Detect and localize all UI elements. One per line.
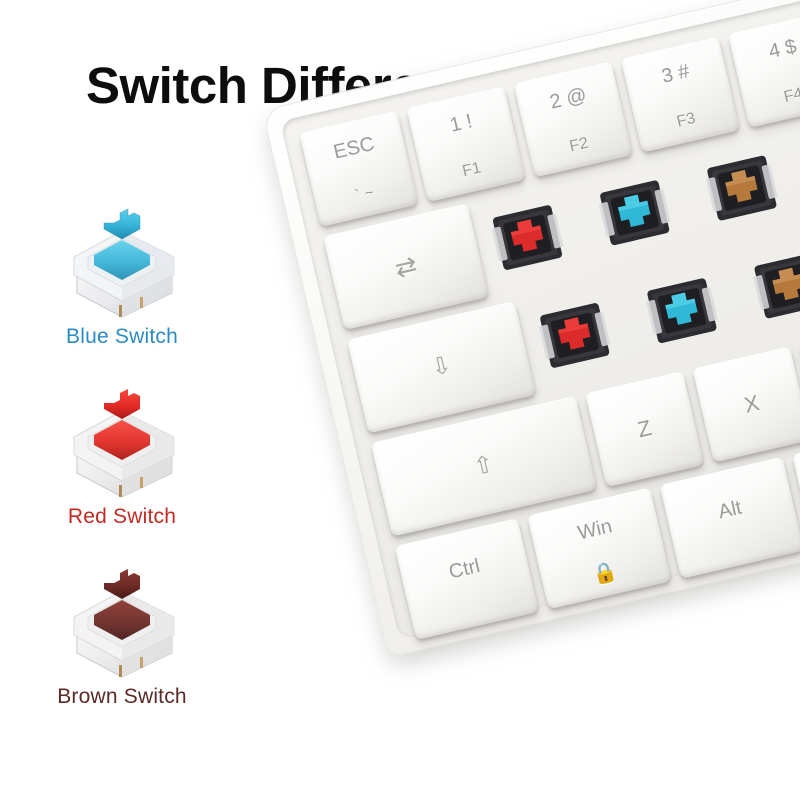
blue-switch-icon [22,205,222,325]
tab-arrows-icon: ⇄ [331,237,481,296]
key-2-sublegend: F2 [529,126,630,164]
key-1-sublegend: F1 [421,151,522,189]
brown-switch-icon [22,565,222,685]
blue-switch-image [22,205,222,325]
red-switch-icon [22,385,222,505]
key-3-sublegend: F3 [636,101,737,139]
key-ctrl-legend: Ctrl [401,546,528,594]
legend-label-red: Red Switch [22,505,222,529]
key-3-legend: 3 # [625,53,727,95]
key-esc-legend: ESC [303,128,405,170]
lock-icon: 🔒 [542,550,669,598]
red-switch-image [22,385,222,505]
key-4-sublegend: F4 [743,77,800,115]
key-2-legend: 2 @ [517,78,619,120]
brown-switch-image [22,565,222,685]
caps-lock-icon: ⇩ [355,336,528,398]
keyboard-case: ESC ` ~ 1 ! F1 2 @ F2 3 # F3 4 $ F4 5 % … [262,0,800,658]
key-1-legend: 1 ! [410,103,512,145]
key-alt-legend: Alt [666,486,793,534]
key-z-legend: Z [593,407,695,451]
shift-up-arrow-icon: ⇧ [379,431,589,502]
legend-item-red[interactable]: Red Switch [22,385,222,529]
legend-label-brown: Brown Switch [22,685,222,709]
legend-label-blue: Blue Switch [22,325,222,349]
screenshot-canvas: Switch Differences [0,0,800,800]
key-4-legend: 4 $ [732,29,800,71]
key-win-legend: Win [531,506,658,554]
key-x-legend: X [701,382,800,426]
key-esc-sublegend: ` ~ [314,176,415,214]
legend-item-brown[interactable]: Brown Switch [22,565,222,709]
legend-item-blue[interactable]: Blue Switch [22,205,222,349]
